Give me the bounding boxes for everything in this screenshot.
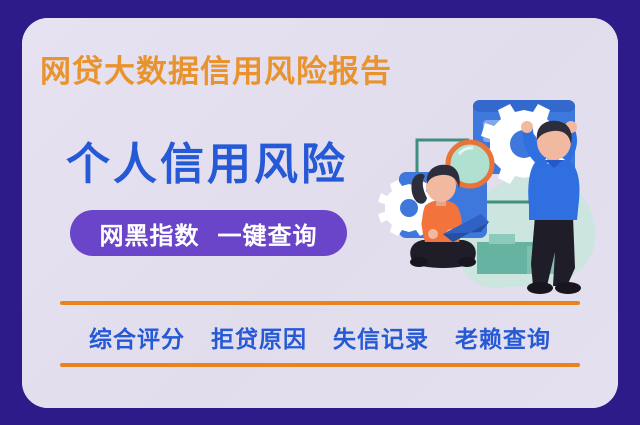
subtitle: 个人信用风险: [66, 128, 348, 192]
keyword-default-record[interactable]: 失信记录: [333, 320, 429, 354]
keyword-row: 综合评分 拒贷原因 失信记录 老赖查询: [60, 314, 580, 360]
query-cta-button[interactable]: 网黑指数 一键查询: [70, 210, 347, 256]
promo-banner: 网贷大数据信用风险报告 个人信用风险 网黑指数 一键查询 综合评分 拒贷原因 失…: [0, 0, 640, 425]
keyword-score[interactable]: 综合评分: [89, 320, 185, 354]
pill-label-index: 网黑指数: [100, 216, 200, 251]
page-title: 网贷大数据信用风险报告: [40, 46, 392, 91]
keyword-debtor-lookup[interactable]: 老赖查询: [455, 320, 551, 354]
keyword-rejection-reason[interactable]: 拒贷原因: [211, 320, 307, 354]
credit-report-illustration: [377, 56, 618, 304]
banner-card: 网贷大数据信用风险报告 个人信用风险 网黑指数 一键查询 综合评分 拒贷原因 失…: [22, 18, 618, 408]
pill-label-query: 一键查询: [218, 216, 318, 251]
divider-top: [60, 301, 580, 305]
divider-bottom: [60, 363, 580, 367]
